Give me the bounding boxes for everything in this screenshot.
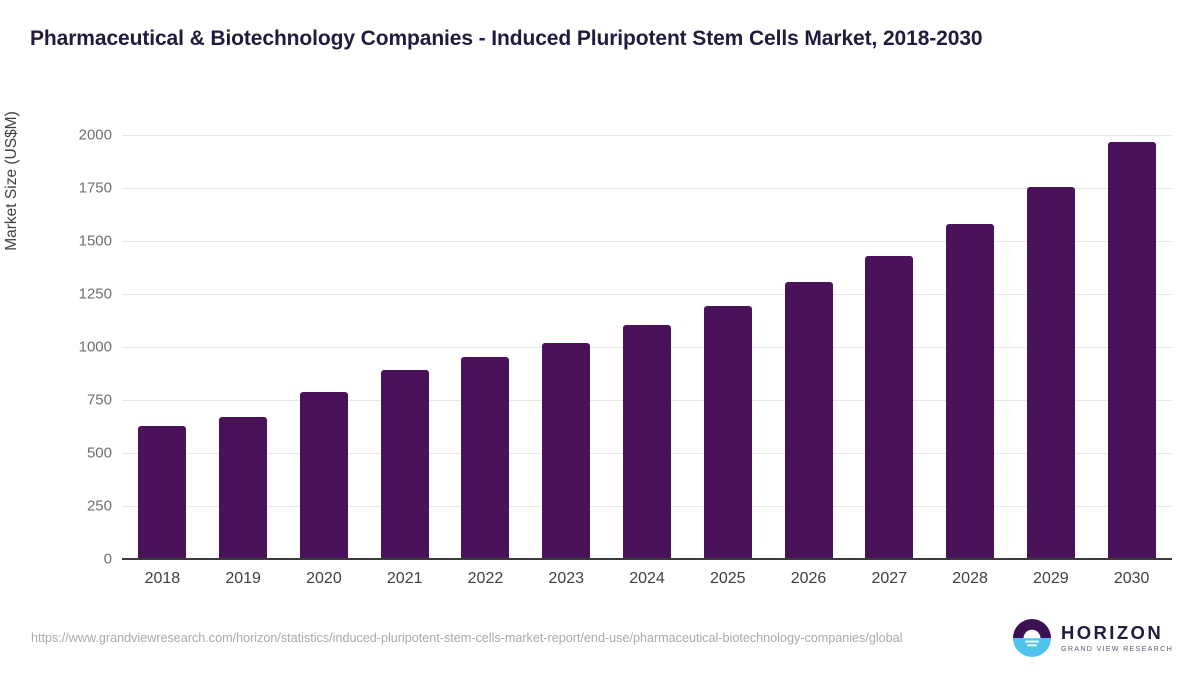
bar-2030[interactable]: [1108, 142, 1156, 559]
y-axis-tick-label: 2000: [44, 127, 112, 144]
x-axis-tick-label: 2025: [688, 570, 768, 588]
logo-title: HORIZON: [1061, 623, 1173, 642]
gridline: [122, 294, 1172, 295]
x-axis-tick-label: 2020: [284, 570, 364, 588]
chart-page: Pharmaceutical & Biotechnology Companies…: [0, 0, 1200, 675]
gridline: [122, 135, 1172, 136]
bar-2027[interactable]: [865, 256, 913, 559]
bar-2026[interactable]: [785, 282, 833, 559]
bar-2022[interactable]: [461, 357, 509, 559]
page-title: Pharmaceutical & Biotechnology Companies…: [30, 24, 1160, 54]
x-axis-tick-label: 2024: [607, 570, 687, 588]
x-axis-line: [122, 558, 1172, 560]
y-axis-tick-label: 1500: [44, 233, 112, 250]
x-axis-tick-label: 2030: [1092, 570, 1172, 588]
x-axis-tick-label: 2021: [365, 570, 445, 588]
bar-2024[interactable]: [623, 325, 671, 559]
y-axis-tick-label: 1000: [44, 339, 112, 356]
y-axis-tick-label: 0: [44, 551, 112, 568]
gridline: [122, 188, 1172, 189]
horizon-logo[interactable]: HORIZON GRAND VIEW RESEARCH: [1012, 618, 1173, 658]
y-axis-tick-label: 500: [44, 445, 112, 462]
x-axis-tick-label: 2018: [122, 570, 202, 588]
x-axis-tick-label: 2019: [203, 570, 283, 588]
bar-2018[interactable]: [138, 426, 186, 559]
y-axis-tick-label: 250: [44, 498, 112, 515]
x-axis-tick-label: 2026: [769, 570, 849, 588]
bar-2023[interactable]: [542, 343, 590, 559]
bar-2020[interactable]: [300, 392, 348, 559]
y-axis-tick-label: 1750: [44, 180, 112, 197]
bar-2025[interactable]: [704, 306, 752, 559]
source-url[interactable]: https://www.grandviewresearch.com/horizo…: [31, 629, 936, 648]
x-axis-tick-label: 2029: [1011, 570, 1091, 588]
x-axis-tick-label: 2027: [849, 570, 929, 588]
horizon-sunrise-circle-icon: [1012, 618, 1052, 658]
bar-2019[interactable]: [219, 417, 267, 559]
y-axis-title: Market Size (US$M): [3, 1, 21, 361]
logo-subtitle: GRAND VIEW RESEARCH: [1061, 644, 1173, 653]
y-axis-tick-label: 1250: [44, 286, 112, 303]
logo-text-block: HORIZON GRAND VIEW RESEARCH: [1061, 623, 1173, 654]
bar-2021[interactable]: [381, 370, 429, 559]
y-axis-tick-label: 750: [44, 392, 112, 409]
bar-2028[interactable]: [946, 224, 994, 559]
plot-area: [122, 135, 1172, 559]
x-axis-tick-label: 2023: [526, 570, 606, 588]
gridline: [122, 241, 1172, 242]
x-axis-tick-label: 2028: [930, 570, 1010, 588]
x-axis-tick-label: 2022: [445, 570, 525, 588]
bar-2029[interactable]: [1027, 187, 1075, 559]
